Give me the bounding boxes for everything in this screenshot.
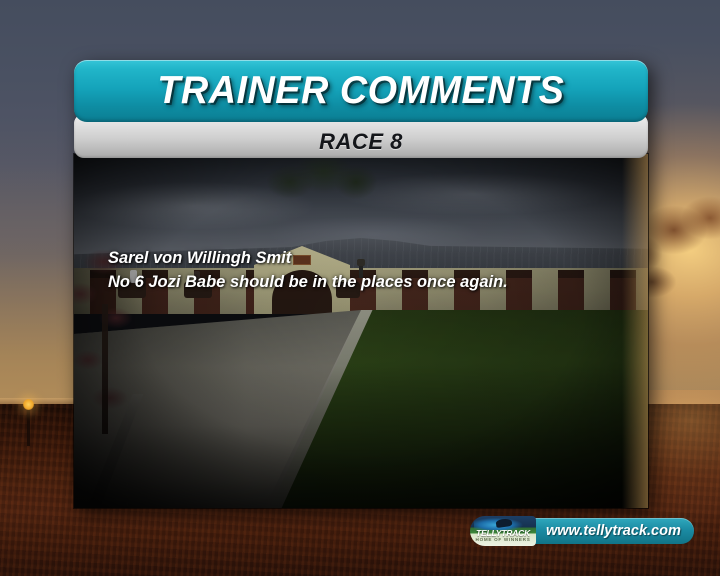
title-bar: TRAINER COMMENTS xyxy=(74,60,648,122)
page-title: TRAINER COMMENTS xyxy=(157,69,564,113)
tellytrack-url-pill: www.tellytrack.com xyxy=(530,518,694,544)
trainer-comment-text: No 6 Jozi Babe should be in the places o… xyxy=(108,270,608,294)
trainer-comments-panel: Sarel von Willingh Smit No 6 Jozi Babe s… xyxy=(74,60,648,510)
background-lamp-light xyxy=(23,399,34,410)
race-label: RACE 8 xyxy=(319,129,403,155)
photo-vignette xyxy=(74,154,648,508)
background-lamp-post xyxy=(27,410,30,446)
stable-yard-photo: Sarel von Willingh Smit No 6 Jozi Babe s… xyxy=(74,154,648,508)
trainer-name: Sarel von Willingh Smit xyxy=(108,246,608,270)
logo-tagline: HOME OF WINNERS xyxy=(470,537,536,542)
trainer-comment-block: Sarel von Willingh Smit No 6 Jozi Babe s… xyxy=(108,246,608,294)
photo-sun-streak xyxy=(622,154,648,508)
tellytrack-logo: TELLYTRACK HOME OF WINNERS xyxy=(470,516,536,546)
tellytrack-watermark: TELLYTRACK HOME OF WINNERS www.tellytrac… xyxy=(470,516,694,546)
broadcast-graphic-screen: Sarel von Willingh Smit No 6 Jozi Babe s… xyxy=(0,0,720,576)
website-url: www.tellytrack.com xyxy=(546,523,681,539)
